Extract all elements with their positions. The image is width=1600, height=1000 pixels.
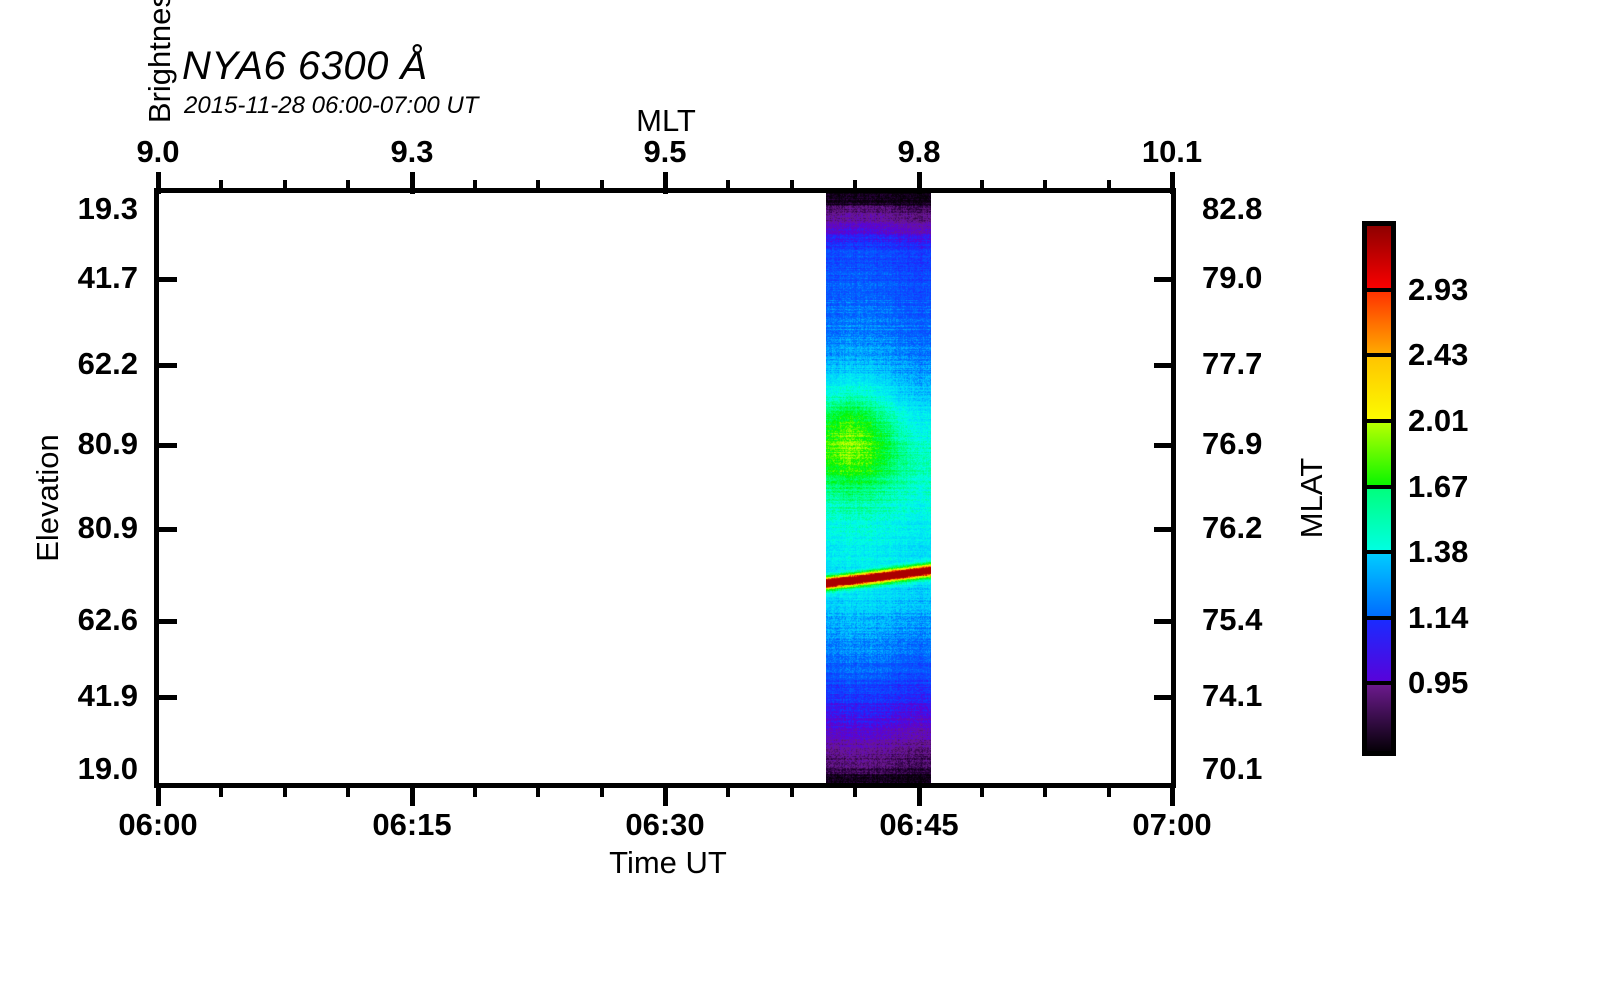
- x-tick-label-2: 06:30: [575, 807, 755, 843]
- x-minor-tick-3-3: [1107, 784, 1111, 797]
- keogram-data-block: [826, 193, 931, 783]
- colorbar-tick-label-0: 2.93: [1408, 272, 1468, 308]
- x-major-tick-2: [663, 784, 668, 806]
- x-major-tick-0: [156, 784, 161, 806]
- x-tick-label-0: 06:00: [68, 807, 248, 843]
- elev-tick-label-6: 41.9: [0, 678, 138, 714]
- keogram-canvas: [826, 193, 931, 783]
- mlat-tick-label-7: 70.1: [1202, 751, 1352, 787]
- top-axis-title-mlt: MLT: [566, 103, 766, 139]
- colorbar-segment-2: [1367, 357, 1391, 423]
- y-axis-title-mlat: MLAT: [1294, 398, 1330, 598]
- colorbar-divider-0: [1367, 288, 1391, 292]
- mlt-minor-tick-2-2: [790, 180, 794, 193]
- colorbar-divider-2: [1367, 419, 1391, 423]
- mlt-minor-tick-1-2: [536, 180, 540, 193]
- colorbar-tick-label-1: 2.43: [1408, 337, 1468, 373]
- mlt-tick-label-4: 10.1: [1082, 134, 1262, 170]
- elev-tick-5: [157, 619, 177, 624]
- x-tick-label-1: 06:15: [322, 807, 502, 843]
- mlt-minor-tick-0-1: [219, 180, 223, 193]
- mlat-tick-5: [1154, 619, 1174, 624]
- mlt-minor-tick-1-1: [473, 180, 477, 193]
- x-major-tick-3: [917, 784, 922, 806]
- mlat-tick-1: [1154, 277, 1174, 282]
- elev-tick-label-2: 62.2: [0, 346, 138, 382]
- x-minor-tick-2-2: [790, 784, 794, 797]
- colorbar-segment-1: [1367, 292, 1391, 358]
- colorbar-tick-label-5: 1.14: [1408, 600, 1468, 636]
- mlat-tick-label-1: 79.0: [1202, 260, 1352, 296]
- x-minor-tick-2-1: [726, 784, 730, 797]
- mlat-tick-6: [1154, 695, 1174, 700]
- colorbar-segment-3: [1367, 423, 1391, 489]
- mlt-tick-label-2: 9.5: [575, 134, 755, 170]
- elev-tick-label-3: 80.9: [0, 426, 138, 462]
- colorbar-segment-6: [1367, 620, 1391, 686]
- mlt-major-tick-4: [1170, 172, 1175, 194]
- colorbar-title: Brightness [kR]: [142, 0, 178, 178]
- mlt-minor-tick-3-3: [1107, 180, 1111, 193]
- x-minor-tick-0-2: [283, 784, 287, 797]
- x-tick-label-4: 07:00: [1082, 807, 1262, 843]
- elev-tick-label-5: 62.6: [0, 602, 138, 638]
- elev-tick-label-1: 41.7: [0, 260, 138, 296]
- mlat-tick-2: [1154, 363, 1174, 368]
- x-major-tick-4: [1170, 784, 1175, 806]
- mlt-tick-label-3: 9.8: [829, 134, 1009, 170]
- mlat-tick-label-5: 75.4: [1202, 602, 1352, 638]
- elev-tick-2: [157, 363, 177, 368]
- mlt-minor-tick-2-1: [726, 180, 730, 193]
- x-axis-title-time: Time UT: [558, 845, 778, 881]
- mlt-minor-tick-3-1: [980, 180, 984, 193]
- elev-tick-label-7: 19.0: [0, 751, 138, 787]
- mlat-tick-3: [1154, 443, 1174, 448]
- page-subtitle: 2015-11-28 06:00-07:00 UT: [184, 92, 478, 120]
- colorbar-gradient: [1367, 226, 1391, 751]
- elev-tick-6: [157, 695, 177, 700]
- x-minor-tick-2-3: [853, 784, 857, 797]
- colorbar-segment-4: [1367, 489, 1391, 555]
- colorbar-tick-label-2: 2.01: [1408, 403, 1468, 439]
- x-minor-tick-1-1: [473, 784, 477, 797]
- x-minor-tick-0-3: [346, 784, 350, 797]
- x-minor-tick-3-2: [1043, 784, 1047, 797]
- x-major-tick-1: [410, 784, 415, 806]
- mlt-tick-label-1: 9.3: [322, 134, 502, 170]
- x-minor-tick-1-3: [600, 784, 604, 797]
- elev-tick-1: [157, 277, 177, 282]
- colorbar-divider-1: [1367, 353, 1391, 357]
- x-minor-tick-1-2: [536, 784, 540, 797]
- mlt-minor-tick-1-3: [600, 180, 604, 193]
- page-title: NYA6 6300 Å: [182, 44, 428, 89]
- elev-tick-label-0: 19.3: [0, 191, 138, 227]
- colorbar-tick-label-6: 0.95: [1408, 665, 1468, 701]
- colorbar-divider-5: [1367, 616, 1391, 620]
- colorbar-segment-5: [1367, 554, 1391, 620]
- mlt-major-tick-3: [917, 172, 922, 194]
- mlat-tick-label-0: 82.8: [1202, 191, 1352, 227]
- elev-tick-3: [157, 443, 177, 448]
- mlt-major-tick-2: [663, 172, 668, 194]
- mlt-major-tick-1: [410, 172, 415, 194]
- mlt-minor-tick-0-2: [283, 180, 287, 193]
- mlat-tick-label-6: 74.1: [1202, 678, 1352, 714]
- x-tick-label-3: 06:45: [829, 807, 1009, 843]
- x-minor-tick-0-1: [219, 784, 223, 797]
- mlat-tick-label-2: 77.7: [1202, 346, 1352, 382]
- colorbar-tick-label-3: 1.67: [1408, 469, 1468, 505]
- y-axis-title-elevation: Elevation: [30, 398, 66, 598]
- colorbar-segment-7: [1367, 685, 1391, 751]
- mlt-minor-tick-0-3: [346, 180, 350, 193]
- mlat-tick-4: [1154, 527, 1174, 532]
- elev-tick-label-4: 80.9: [0, 510, 138, 546]
- colorbar-divider-4: [1367, 550, 1391, 554]
- colorbar-segment-0: [1367, 226, 1391, 292]
- colorbar-tick-label-4: 1.38: [1408, 534, 1468, 570]
- mlt-minor-tick-3-2: [1043, 180, 1047, 193]
- x-minor-tick-3-1: [980, 784, 984, 797]
- colorbar-divider-6: [1367, 681, 1391, 685]
- colorbar-divider-3: [1367, 485, 1391, 489]
- mlt-minor-tick-2-3: [853, 180, 857, 193]
- elev-tick-4: [157, 527, 177, 532]
